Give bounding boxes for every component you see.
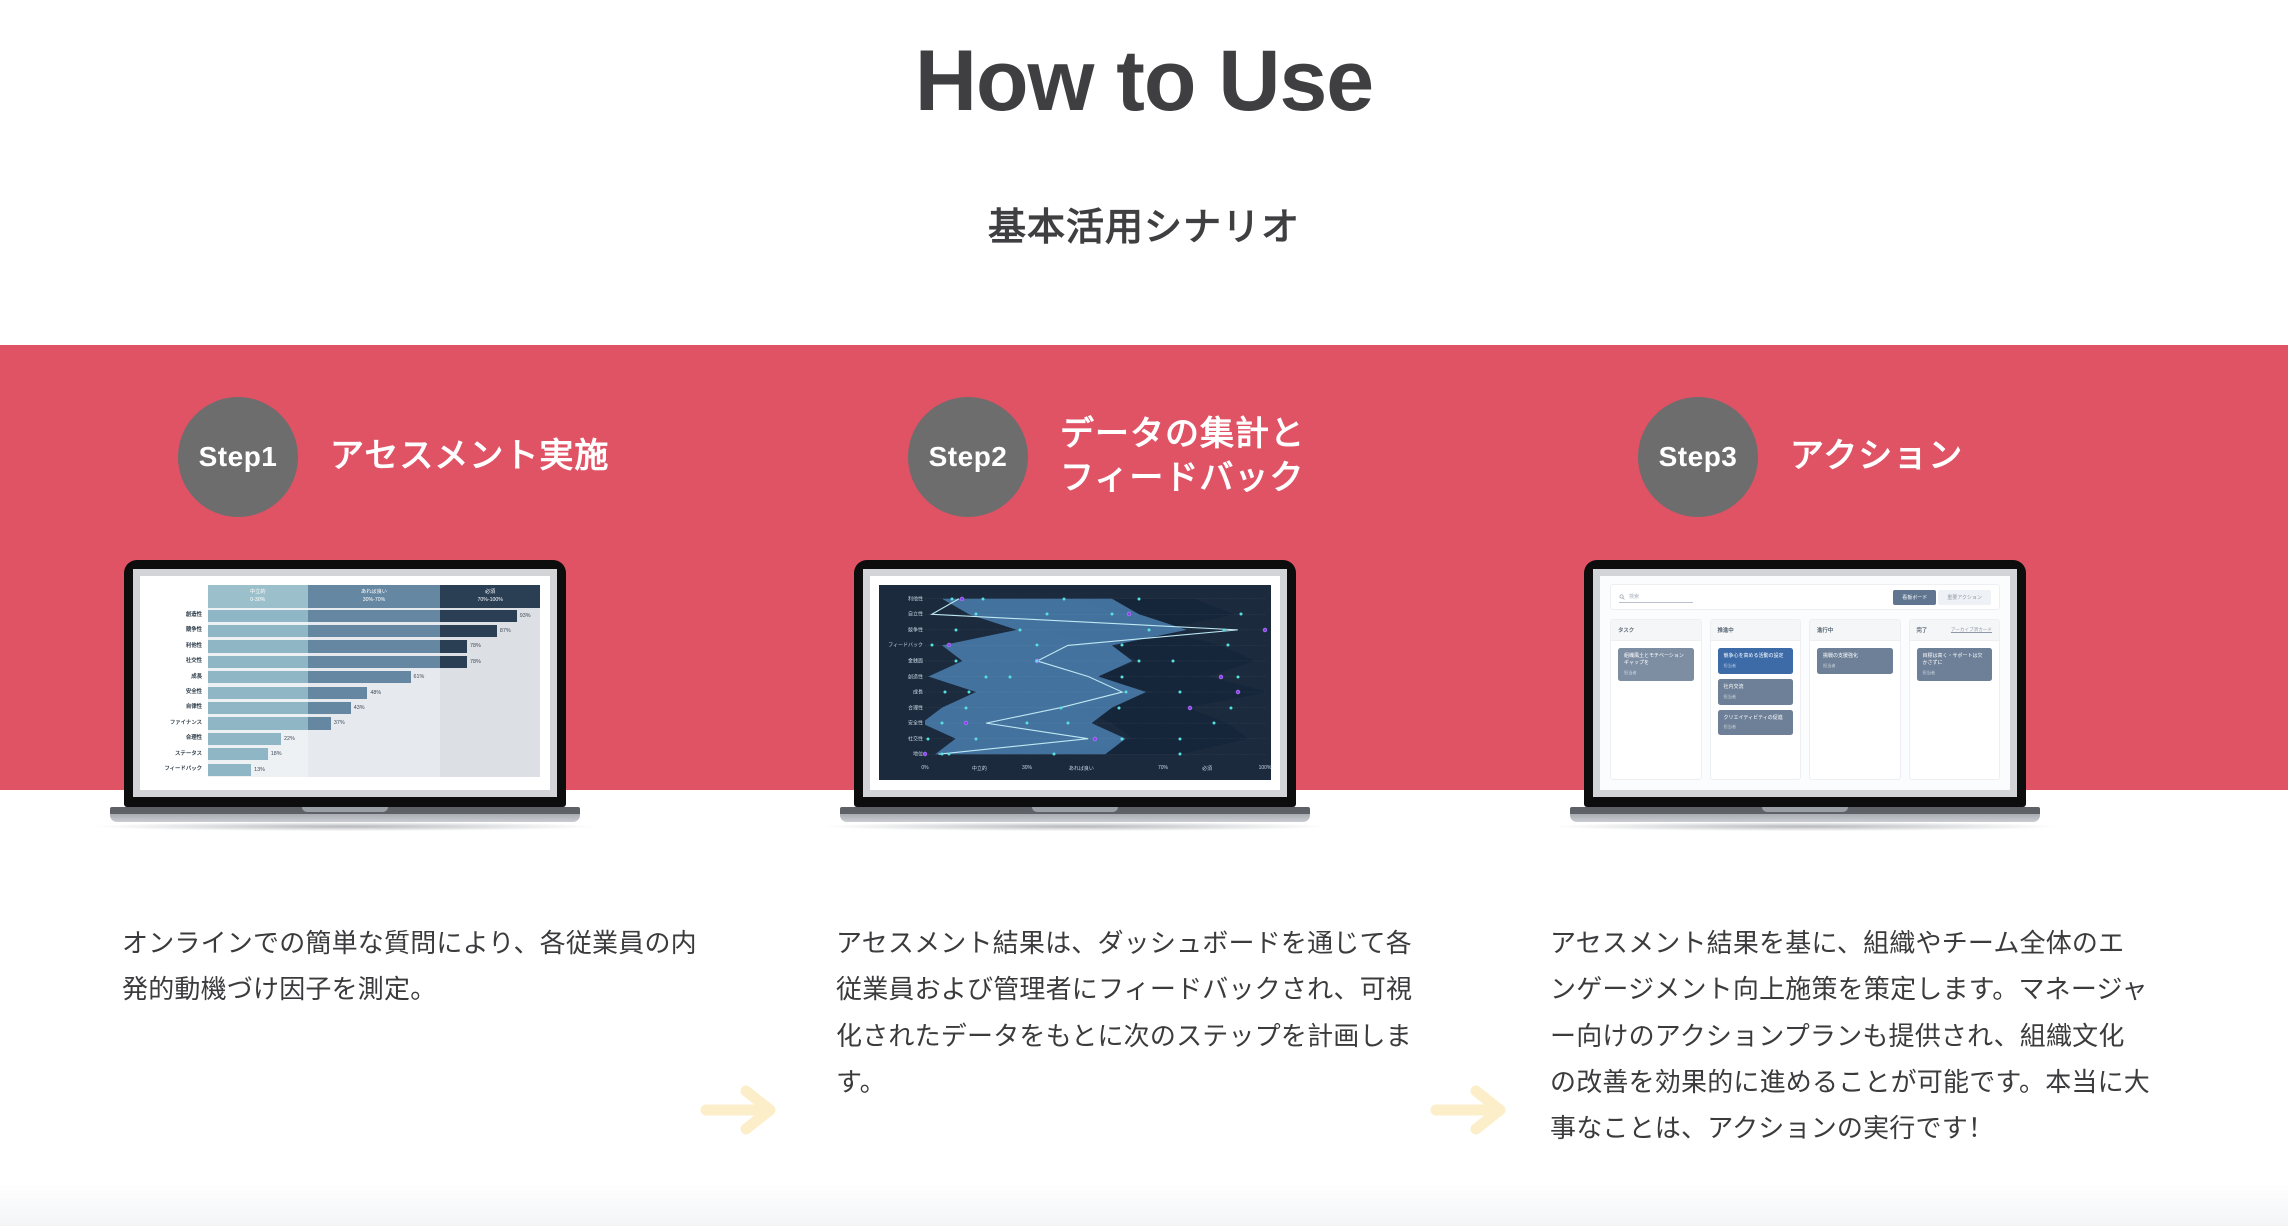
scatter-point (961, 597, 964, 600)
kanban-card[interactable]: 挑戦の支援強化担当者 (1817, 648, 1893, 674)
band-label: 必須 (485, 589, 495, 596)
kanban-tab[interactable]: 看板ボード (1893, 590, 1936, 605)
assessment-bar-chart: 中立的0-30%あれば良い30%-70%必須70%-100% 創造性競争性利他性… (140, 576, 550, 790)
scatter-point (1066, 722, 1069, 725)
bar-chart-row: 78% (208, 654, 540, 669)
laptop-screen-3: 検索 看板ボード重要アクション タスク組織風土とモチベーションギャップを担当者推… (1600, 576, 2010, 790)
kanban-search[interactable]: 検索 (1619, 592, 1893, 603)
bar-chart-bar (208, 687, 367, 699)
kanban-card[interactable]: 目標は高く・サポートは欠かさずに担当者 (1917, 648, 1993, 681)
bar-chart-band-3: 必須70%-100% (440, 585, 540, 608)
bar-chart-bar (208, 625, 497, 637)
laptop-shadow-3 (1556, 822, 2054, 831)
laptop-shadow-2 (826, 822, 1324, 831)
laptop-lid-1: 中立的0-30%あれば良い30%-70%必須70%-100% 創造性競争性利他性… (124, 560, 566, 807)
bar-chart-row: 37% (208, 716, 540, 731)
bar-chart-value-label: 61% (414, 674, 425, 680)
bar-chart-row: 22% (208, 731, 540, 746)
scatter-y-tick-label: 成長 (913, 689, 923, 696)
laptop-base-2 (840, 807, 1310, 822)
scatter-point (941, 753, 944, 756)
scatter-point (951, 597, 954, 600)
scatter-y-tick-label: 創造性 (908, 673, 923, 680)
bar-chart-category-label: 創造性 (150, 608, 208, 623)
kanban-card-title: クリエイティビティの促進 (1724, 715, 1788, 722)
scatter-point (1240, 613, 1243, 616)
laptop-shadow-1 (96, 822, 594, 831)
kanban-column: 進行中挑戦の支援強化担当者 (1809, 619, 1901, 780)
kanban-column-header: 進行中 (1810, 620, 1900, 641)
bar-chart-category-label: 利他性 (150, 639, 208, 654)
kanban-card-meta: 担当者 (1724, 724, 1788, 730)
bar-chart-bar (208, 733, 281, 745)
scatter-point (927, 737, 930, 740)
step-1-heading: Step1 アセスメント実施 (178, 397, 609, 517)
scatter-point (975, 613, 978, 616)
scatter-point (1121, 675, 1124, 678)
kanban-column-title: 推進中 (1718, 626, 1734, 634)
bar-chart-row: 93% (208, 608, 540, 623)
kanban-card-title: 競争心を高める活動の設定 (1724, 653, 1788, 660)
scatter-point (1009, 675, 1012, 678)
scatter-point (1179, 737, 1182, 740)
laptop-mockup-3: 検索 看板ボード重要アクション タスク組織風土とモチベーションギャップを担当者推… (1570, 560, 2150, 860)
dashboard-scatter-chart: 利他性自立性競争性フィードバック金銭面創造性成長合理性安全性社交性地位 0%中立… (870, 576, 1280, 790)
kanban-tab[interactable]: 重要アクション (1938, 590, 1991, 605)
scatter-point (1226, 644, 1229, 647)
how-to-use-page: How to Use 基本活用シナリオ Step1 アセスメント実施 (0, 0, 2288, 1226)
kanban-toolbar: 検索 看板ボード重要アクション (1610, 584, 2000, 610)
bar-chart-value-label: 43% (354, 705, 365, 711)
scatter-point (1026, 722, 1029, 725)
scatter-point (1138, 659, 1141, 662)
scatter-point (954, 659, 957, 662)
scatter-point (1138, 597, 1141, 600)
scatter-chart-x-labels: 0%中立的30%あれば良い70%必須100% (925, 765, 1265, 777)
step-2-description: アセスメント結果は、ダッシュボードを通じて各従業員および管理者にフィードバックさ… (836, 920, 1436, 1105)
bar-chart-value-label: 78% (470, 659, 481, 665)
step-1-description: オンラインでの簡単な質問により、各従業員の内発的動機づけ因子を測定。 (122, 920, 722, 1013)
kanban-card-meta: 担当者 (1624, 670, 1688, 676)
scatter-point (1046, 613, 1049, 616)
scatter-chart-plot-area (925, 591, 1265, 762)
bar-chart-category-label: 合理性 (150, 731, 208, 746)
bar-chart-category-label: ステータス (150, 747, 208, 762)
arrow-step1-to-step2 (700, 1079, 790, 1141)
bar-chart-row: 43% (208, 700, 540, 715)
laptop-mockup-2: 利他性自立性競争性フィードバック金銭面創造性成長合理性安全性社交性地位 0%中立… (840, 560, 1420, 860)
scatter-point (1111, 613, 1114, 616)
band-label: あれば良い (361, 589, 387, 596)
bar-chart-value-label: 18% (271, 751, 282, 757)
bar-chart-row: 61% (208, 670, 540, 685)
bar-chart-bar (208, 610, 517, 622)
scatter-y-tick-label: 合理性 (908, 704, 923, 711)
scatter-point (954, 628, 957, 631)
band-range: 0-30% (250, 597, 265, 604)
kanban-column-header: 推進中 (1711, 620, 1801, 641)
laptop-base-3 (1570, 807, 2040, 822)
bar-chart-category-labels: 創造性競争性利他性社交性成長安全性自律性ファイナンス合理性ステータスフィードバッ… (150, 608, 208, 777)
bar-chart-value-label: 22% (284, 736, 295, 742)
scatter-point (985, 675, 988, 678)
kanban-card[interactable]: 競争心を高める活動の設定担当者 (1718, 648, 1794, 674)
kanban-view-tabs[interactable]: 看板ボード重要アクション (1893, 590, 1991, 605)
scatter-point (1094, 737, 1097, 740)
kanban-column-body: 目標は高く・サポートは欠かさずに担当者 (1910, 641, 2000, 688)
scatter-point (981, 597, 984, 600)
bar-chart-category-label: 自律性 (150, 700, 208, 715)
scatter-y-tick-label: 自立性 (908, 611, 923, 618)
bar-chart-row: 48% (208, 685, 540, 700)
bar-chart-category-label: 競争性 (150, 623, 208, 638)
kanban-card-title: 目標は高く・サポートは欠かさずに (1923, 653, 1987, 667)
kanban-archive-link[interactable]: アーカイブ済カード (1951, 627, 1992, 633)
kanban-card-meta: 担当者 (1823, 663, 1887, 669)
laptop-mockup-1: 中立的0-30%あれば良い30%-70%必須70%-100% 創造性競争性利他性… (110, 560, 690, 860)
laptop-screen-2: 利他性自立性競争性フィードバック金銭面創造性成長合理性安全性社交性地位 0%中立… (870, 576, 1280, 790)
laptop-screen-1: 中立的0-30%あれば良い30%-70%必須70%-100% 創造性競争性利他性… (140, 576, 550, 790)
scatter-point (1019, 628, 1022, 631)
kanban-card[interactable]: 社内交流担当者 (1718, 679, 1794, 705)
step-1-title: アセスメント実施 (330, 435, 609, 479)
scatter-point (1128, 613, 1131, 616)
bar-chart-bar (208, 717, 331, 729)
bar-chart-category-label: ファイナンス (150, 716, 208, 731)
bar-chart-category-label: 安全性 (150, 685, 208, 700)
bar-chart-value-label: 78% (470, 643, 481, 649)
scatter-point (1121, 644, 1124, 647)
scatter-point (964, 722, 967, 725)
scatter-point (1264, 628, 1267, 631)
scatter-y-tick-label: 金銭面 (908, 657, 923, 664)
scatter-point (1236, 691, 1239, 694)
kanban-card-meta: 担当者 (1923, 670, 1987, 676)
bar-chart-bars: 93%87%78%78%61%48%43%37%22%18%13% (208, 608, 540, 777)
scatter-y-tick-label: 安全性 (908, 720, 923, 727)
bar-chart-category-label: 社交性 (150, 654, 208, 669)
kanban-column-body: 競争心を高める活動の設定担当者社内交流担当者クリエイティビティの促進担当者 (1711, 641, 1801, 742)
scatter-point (1036, 659, 1039, 662)
scatter-point (1124, 691, 1127, 694)
bar-chart-band-1: 中立的0-30% (208, 585, 308, 608)
scatter-point (1236, 675, 1239, 678)
bar-chart-bar (208, 640, 467, 652)
scatter-point (975, 737, 978, 740)
kanban-card-title: 挑戦の支援強化 (1823, 653, 1887, 660)
scatter-x-tick-label: 中立的 (972, 765, 987, 772)
scatter-point (1179, 753, 1182, 756)
scatter-point (1053, 753, 1056, 756)
scatter-y-tick-label: 競争性 (908, 626, 923, 633)
scatter-y-tick-label: 社交性 (908, 735, 923, 742)
kanban-card-title: 社内交流 (1724, 684, 1788, 691)
laptop-lid-2: 利他性自立性競争性フィードバック金銭面創造性成長合理性安全性社交性地位 0%中立… (854, 560, 1296, 807)
kanban-card[interactable]: 組織風土とモチベーションギャップを担当者 (1618, 648, 1694, 681)
bar-chart-value-label: 37% (334, 720, 345, 726)
bar-chart-category-label: フィードバック (150, 762, 208, 777)
scatter-x-tick-label: 0% (921, 765, 928, 771)
scatter-point (1179, 691, 1182, 694)
bar-chart-row: 87% (208, 623, 540, 638)
step-3-title: アクション (1790, 435, 1963, 479)
bar-chart-category-label: 成長 (150, 670, 208, 685)
bar-chart-bar (208, 702, 351, 714)
kanban-card-meta: 担当者 (1724, 694, 1788, 700)
scatter-point (964, 706, 967, 709)
kanban-column: タスク組織風土とモチベーションギャップを担当者 (1610, 619, 1702, 780)
bar-chart-row: 78% (208, 639, 540, 654)
scatter-x-tick-label: 70% (1158, 765, 1168, 771)
scatter-point (1213, 722, 1216, 725)
scatter-x-tick-label: 必須 (1202, 765, 1212, 772)
bottom-fade (0, 1184, 2288, 1226)
kanban-card[interactable]: クリエイティビティの促進担当者 (1718, 710, 1794, 736)
band-label: 中立的 (250, 589, 266, 596)
step-1-badge: Step1 (178, 397, 298, 517)
kanban-column: 完了アーカイブ済カード目標は高く・サポートは欠かさずに担当者 (1909, 619, 2001, 780)
laptop-base-1 (110, 807, 580, 822)
scatter-y-tick-label: フィードバック (888, 642, 923, 649)
scatter-point (1189, 706, 1192, 709)
scatter-point (1060, 706, 1063, 709)
kanban-column-body: 組織風土とモチベーションギャップを担当者 (1611, 641, 1701, 688)
step-2-heading: Step2 データの集計と フィードバック (908, 397, 1305, 517)
kanban-column-title: 進行中 (1817, 626, 1833, 634)
page-title: How to Use (0, 38, 2288, 124)
page-subtitle: 基本活用シナリオ (0, 196, 2288, 251)
kanban-search-placeholder: 検索 (1629, 593, 1639, 600)
step-2-badge: Step2 (908, 397, 1028, 517)
kanban-column-body: 挑戦の支援強化担当者 (1810, 641, 1900, 681)
step-3-badge: Step3 (1638, 397, 1758, 517)
bar-chart-bar (208, 656, 467, 668)
scatter-point (968, 691, 971, 694)
bar-chart-value-label: 48% (370, 690, 381, 696)
bar-chart-bar (208, 671, 411, 683)
scatter-point (1121, 737, 1124, 740)
scatter-point (1117, 706, 1120, 709)
bar-chart-row: 13% (208, 762, 540, 777)
kanban-column-title: タスク (1618, 626, 1634, 634)
bar-chart-value-label: 93% (520, 613, 531, 619)
bar-chart-value-label: 13% (254, 767, 265, 773)
search-icon (1619, 594, 1625, 600)
kanban-card-title: 組織風土とモチベーションギャップを (1624, 653, 1688, 667)
scatter-point (1230, 706, 1233, 709)
bar-chart-value-label: 87% (500, 628, 511, 634)
bar-chart-bar (208, 764, 251, 776)
kanban-column: 推進中競争心を高める活動の設定担当者社内交流担当者クリエイティビティの促進担当者 (1710, 619, 1802, 780)
scatter-point (1172, 659, 1175, 662)
kanban-card-meta: 担当者 (1724, 663, 1788, 669)
scatter-y-tick-label: 地位 (913, 751, 923, 758)
scatter-point (1063, 597, 1066, 600)
scatter-point (947, 753, 950, 756)
step-3-description: アセスメント結果を基に、組織やチーム全体のエンゲージメント向上施策を策定します。… (1550, 920, 2150, 1151)
scatter-point (941, 722, 944, 725)
kanban-column-header: タスク (1611, 620, 1701, 641)
kanban-columns: タスク組織風土とモチベーションギャップを担当者推進中競争心を高める活動の設定担当… (1610, 619, 2000, 780)
bar-chart-band-2: あれば良い30%-70% (308, 585, 441, 608)
band-range: 70%-100% (477, 597, 502, 604)
scatter-point (924, 753, 927, 756)
bar-chart-row: 18% (208, 747, 540, 762)
scatter-point (947, 644, 950, 647)
scatter-chart-y-labels: 利他性自立性競争性フィードバック金銭面創造性成長合理性安全性社交性地位 (881, 591, 925, 762)
scatter-x-tick-label: あれば良い (1069, 765, 1094, 772)
bar-chart-band-header: 中立的0-30%あれば良い30%-70%必須70%-100% (208, 585, 540, 608)
band-range: 30%-70% (363, 597, 386, 604)
scatter-point (944, 691, 947, 694)
kanban-board: 検索 看板ボード重要アクション タスク組織風土とモチベーションギャップを担当者推… (1600, 576, 2010, 790)
step-3-heading: Step3 アクション (1638, 397, 1963, 517)
scatter-point (1223, 628, 1226, 631)
page-header: How to Use 基本活用シナリオ (0, 0, 2288, 345)
scatter-point (1148, 628, 1151, 631)
scatter-y-tick-label: 利他性 (908, 595, 923, 602)
step-2-title: データの集計と フィードバック (1060, 413, 1305, 500)
kanban-column-title: 完了 (1917, 626, 1928, 634)
scatter-x-tick-label: 100% (1259, 765, 1272, 771)
scatter-point (930, 644, 933, 647)
scatter-point (1219, 675, 1222, 678)
scatter-x-tick-label: 30% (1022, 765, 1032, 771)
arrow-step2-to-step3 (1430, 1079, 1520, 1141)
laptop-lid-3: 検索 看板ボード重要アクション タスク組織風土とモチベーションギャップを担当者推… (1584, 560, 2026, 807)
bar-chart-bar (208, 748, 268, 760)
kanban-column-header: 完了アーカイブ済カード (1910, 620, 2000, 641)
scatter-point (1036, 644, 1039, 647)
steps-row: Step1 アセスメント実施 中立的0-30%あれば良い3 (0, 345, 2288, 905)
